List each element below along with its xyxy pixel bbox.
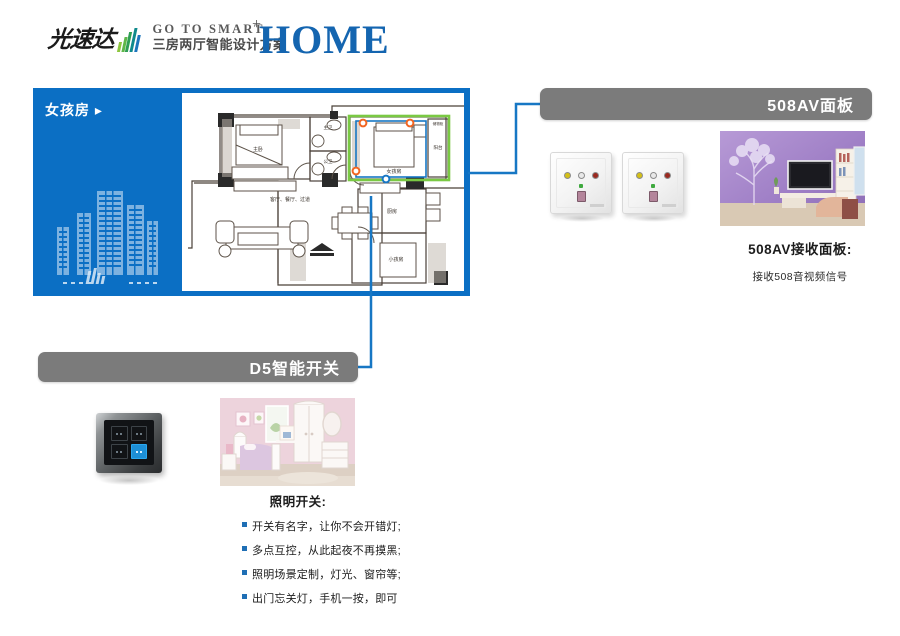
switch-face	[104, 420, 154, 465]
d5-caption-title: 照明开关:	[198, 491, 398, 510]
feature-bullet: 开关有名字，让你不会开错灯;	[198, 518, 398, 534]
brand-logo: 光速达 GO TO SMART 三房两厅智能设计方案	[48, 22, 287, 53]
switch-key[interactable]	[111, 426, 128, 441]
d5-caption: 照明开关: 开关有名字，让你不会开错灯; 多点互控，从此起夜不再摸黑; 照明场景…	[198, 491, 398, 614]
status-led-icon	[651, 184, 655, 188]
plan-room-title: 女孩房 ▸	[45, 100, 103, 120]
rca-jack-row	[623, 172, 683, 179]
feature-bullet-text: 多点互控，从此起夜不再摸黑;	[252, 542, 401, 558]
svg-text:阳台: 阳台	[434, 144, 443, 151]
skyline-graphic	[41, 155, 181, 290]
svg-text:客厅、餐厅、过道: 客厅、餐厅、过道	[270, 196, 310, 203]
rj-jack-icon	[649, 191, 658, 202]
feature-bullet-text: 出门忘关灯，手机一按，即可	[252, 590, 398, 606]
feature-bullet: 照明场景定制，灯光、窗帘等;	[198, 566, 398, 582]
plate-brandmark	[590, 204, 604, 207]
rca-white-icon	[578, 172, 585, 179]
section-label-508av-text: 508AV面板	[767, 92, 854, 116]
bullet-square-icon	[242, 546, 247, 551]
bullet-square-icon	[242, 594, 247, 599]
bullet-square-icon	[242, 570, 247, 575]
d5-switch-product	[96, 413, 162, 475]
rca-yellow-icon	[636, 172, 643, 179]
svg-text:主卧: 主卧	[253, 146, 263, 153]
svg-text:储物柜: 储物柜	[433, 121, 444, 126]
section-label-d5-text: D5智能开关	[250, 355, 340, 379]
av-caption-sub: 接收508音视频信号	[720, 269, 880, 284]
av-caption-title: 508AV接收面板:	[720, 238, 880, 258]
switch-key[interactable]	[111, 444, 128, 459]
brand-name-cn: 光速达	[47, 27, 116, 53]
rj-jack-icon	[577, 191, 586, 202]
switch-key-active[interactable]	[131, 444, 148, 459]
feature-bullet: 出门忘关灯，手机一按，即可	[198, 590, 398, 606]
living-room-photo	[720, 131, 865, 226]
switch-shadow	[100, 476, 158, 485]
floor-plan-card: 女孩房 ▸	[33, 88, 470, 296]
page-header: 光速达 GO TO SMART 三房两厅智能设计方案 + HOME	[0, 0, 900, 78]
bullet-square-icon	[242, 522, 247, 527]
switch-key-grid	[111, 426, 147, 459]
svg-text:主卫: 主卫	[324, 124, 333, 130]
rca-white-icon	[650, 172, 657, 179]
section-label-508av[interactable]: 508AV面板	[540, 88, 872, 120]
floor-plan-drawing: 主卧 主卫 公卫 客厅、餐厅、过道 女孩房 阳台 储物柜 厨房 小孩房	[180, 91, 466, 293]
plate-shadow	[631, 215, 677, 222]
av-caption: 508AV接收面板: 接收508音视频信号	[720, 238, 880, 284]
av-wallplate	[550, 152, 612, 214]
av-wallplate-group	[550, 138, 720, 228]
rca-red-icon	[664, 172, 671, 179]
svg-text:公卫: 公卫	[324, 159, 333, 164]
plate-shadow	[559, 215, 605, 222]
rca-red-icon	[592, 172, 599, 179]
rca-yellow-icon	[564, 172, 571, 179]
feature-bullet-text: 照明场景定制，灯光、窗帘等;	[252, 566, 401, 582]
svg-text:小孩房: 小孩房	[388, 256, 403, 263]
svg-text:厨房: 厨房	[387, 208, 397, 215]
av-wallplate	[622, 152, 684, 214]
home-text: HOME	[259, 18, 390, 62]
section-label-d5[interactable]: D5智能开关	[38, 352, 358, 382]
plate-brandmark	[662, 204, 676, 207]
feature-bullet-text: 开关有名字，让你不会开错灯;	[252, 518, 401, 534]
home-wordmark: + HOME	[252, 18, 390, 62]
svg-text:女孩房: 女孩房	[386, 168, 401, 175]
status-led-icon	[579, 184, 583, 188]
logo-bars-icon	[118, 26, 141, 52]
switch-body	[96, 413, 162, 473]
rca-jack-row	[551, 172, 611, 179]
girl-bedroom-photo	[220, 398, 355, 486]
switch-key[interactable]	[131, 426, 148, 441]
feature-bullet: 多点互控，从此起夜不再摸黑;	[198, 542, 398, 558]
